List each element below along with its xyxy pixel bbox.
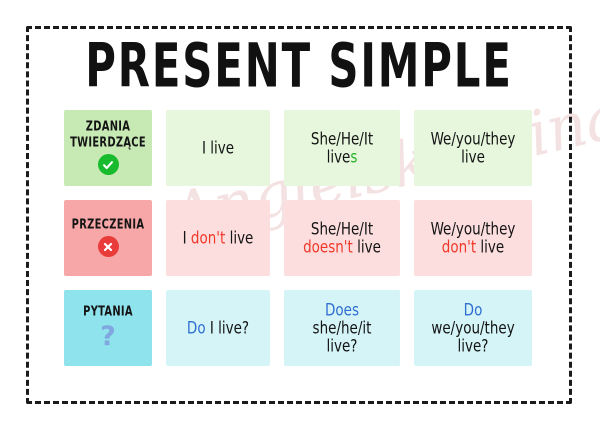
cell-affirmative-plural: We/you/they live xyxy=(414,110,532,186)
cell-line-3: live? xyxy=(327,336,358,356)
cell-line-1: Do I live? xyxy=(187,318,249,338)
text-highlight: doesn't xyxy=(303,237,353,257)
text-highlight: don't xyxy=(191,228,225,248)
text-highlight: Do xyxy=(187,318,206,338)
check-circle-icon xyxy=(98,154,119,175)
present-simple-poster: AngielskizNiną PRESENT SIMPLE ZDANIA TWI… xyxy=(0,0,600,424)
row-label-line1: PRZECZENIA xyxy=(72,218,145,233)
conjugation-table: ZDANIA TWIERDZĄCE I live She/He/It lives xyxy=(64,110,532,366)
cell-negative-third-person: She/He/It doesn't live xyxy=(284,200,400,276)
cross-circle-icon xyxy=(98,236,119,257)
text-plain-after: I live? xyxy=(206,318,250,338)
cell-question-i: Do I live? xyxy=(166,290,270,366)
row-label-line2: TWIERDZĄCE xyxy=(70,135,146,150)
cell-line-2: live xyxy=(461,147,485,167)
text-plain-after: live xyxy=(476,237,504,257)
text-highlight: don't xyxy=(442,237,476,257)
cell-line-1: Do xyxy=(464,299,483,319)
text-highlight: s xyxy=(350,147,357,167)
cell-line-2: don't live xyxy=(442,237,504,257)
cell-negative-plural: We/you/they don't live xyxy=(414,200,532,276)
row-label-negative: PRZECZENIA xyxy=(64,200,152,276)
row-label-affirmative: ZDANIA TWIERDZĄCE xyxy=(64,110,152,186)
cell-line-2: doesn't live xyxy=(303,237,381,257)
row-label-question: PYTANIA ? xyxy=(64,290,152,366)
cell-affirmative-third-person: She/He/It lives xyxy=(284,110,400,186)
page-title: PRESENT SIMPLE xyxy=(45,34,553,98)
cell-question-third-person: Does she/he/it live? xyxy=(284,290,400,366)
cell-affirmative-i: I live xyxy=(166,110,270,186)
row-label-line1: PYTANIA xyxy=(83,305,133,320)
text-plain-after: live xyxy=(225,228,253,248)
question-mark-icon: ? xyxy=(100,323,116,350)
cell-line-1: Does xyxy=(325,299,359,319)
text-plain-after: live xyxy=(353,237,381,257)
cell-negative-i: I don't live xyxy=(166,200,270,276)
cell-line-1: I don't live xyxy=(183,228,254,248)
cell-question-plural: Do we/you/they live? xyxy=(414,290,532,366)
cell-line-2: lives xyxy=(327,147,358,167)
cell-line-3: live? xyxy=(458,336,489,356)
cell-line-1: I live xyxy=(202,138,234,158)
row-label-line1: ZDANIA xyxy=(86,120,130,135)
text-plain: live xyxy=(327,147,351,167)
text-plain-after: live xyxy=(210,138,234,158)
